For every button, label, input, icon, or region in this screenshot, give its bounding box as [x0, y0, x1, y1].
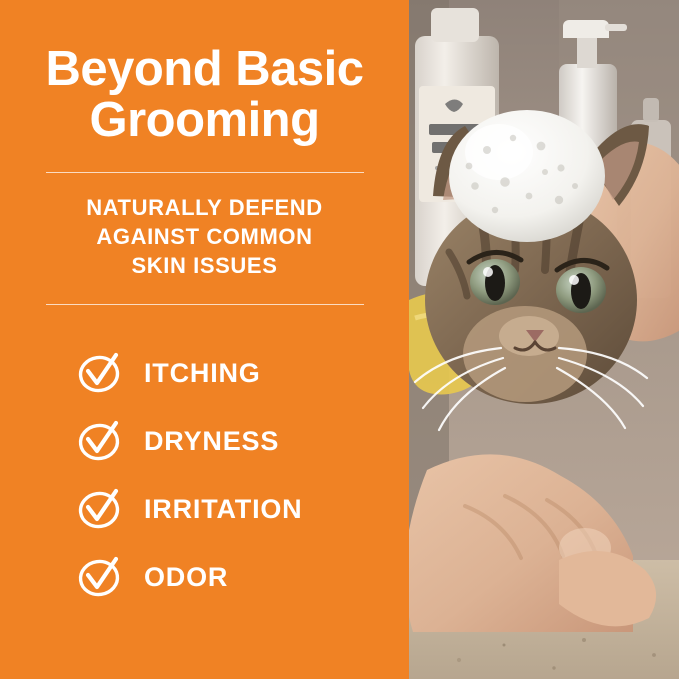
- checkmark-circle-icon: [76, 554, 122, 600]
- headline-line-1: Beyond Basic: [45, 42, 363, 96]
- subheadline: NATURALLY DEFEND AGAINST COMMON SKIN ISS…: [0, 173, 409, 280]
- benefits-list: ITCHING DRYNESS IRRITATI: [0, 339, 409, 611]
- benefit-label: ITCHING: [144, 358, 261, 389]
- marketing-copy-panel: Beyond Basic Grooming NATURALLY DEFEND A…: [0, 0, 409, 679]
- lifestyle-photo: [409, 0, 679, 679]
- checkmark-circle-icon: [76, 418, 122, 464]
- benefit-label: ODOR: [144, 562, 228, 593]
- page-title: Beyond Basic Grooming: [0, 0, 409, 146]
- checkmark-circle-icon: [76, 350, 122, 396]
- subheadline-line-3: SKIN ISSUES: [40, 251, 369, 280]
- subheadline-line-1: NATURALLY DEFEND: [40, 193, 369, 222]
- list-item: ITCHING: [76, 339, 409, 407]
- benefit-label: DRYNESS: [144, 426, 279, 457]
- headline-line-2: Grooming: [18, 95, 391, 146]
- divider-bottom: [46, 304, 364, 305]
- checkmark-circle-icon: [76, 486, 122, 532]
- list-item: IRRITATION: [76, 475, 409, 543]
- subheadline-line-2: AGAINST COMMON: [40, 222, 369, 251]
- product-lifestyle-banner: Beyond Basic Grooming NATURALLY DEFEND A…: [0, 0, 679, 679]
- benefit-label: IRRITATION: [144, 494, 302, 525]
- list-item: ODOR: [76, 543, 409, 611]
- list-item: DRYNESS: [76, 407, 409, 475]
